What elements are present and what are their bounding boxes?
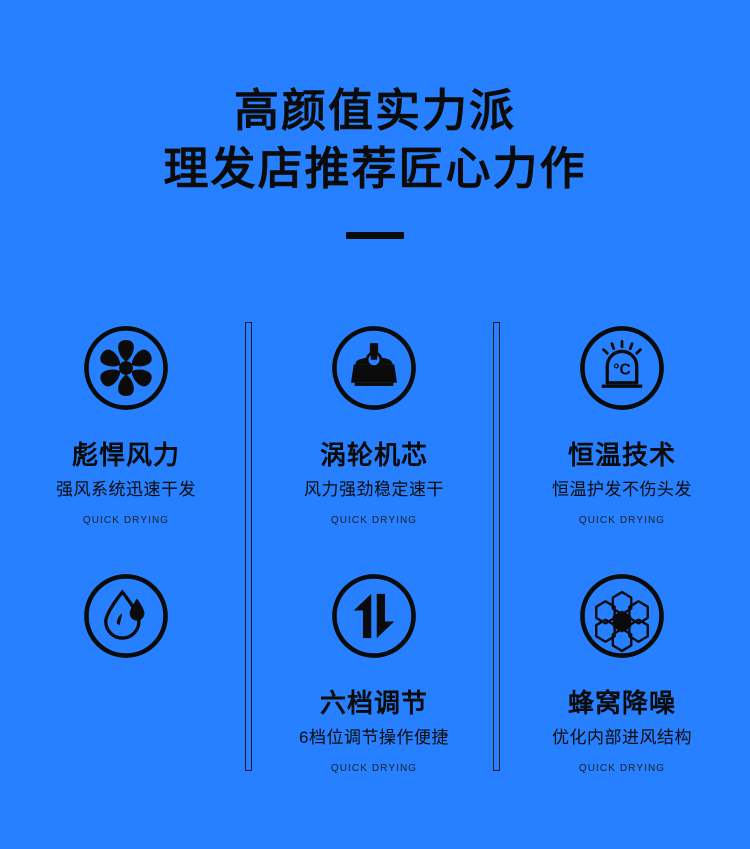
feature-title: 恒温技术 (498, 438, 746, 472)
motor-icon (328, 322, 420, 414)
feature-cell-constant-temperature: °C 恒温技术 恒温护发不伤头发 QUICK DRYING (498, 322, 746, 529)
feature-subtitle: 风力强劲稳定速干 (250, 478, 498, 502)
honeycomb-icon (576, 570, 668, 662)
feature-subtitle: 恒温护发不伤头发 (498, 478, 746, 502)
temperature-icon: °C (576, 322, 668, 414)
feature-english-caption: QUICK DRYING (498, 513, 746, 529)
feature-subtitle: 强风系统迅速干发 (2, 478, 250, 502)
feature-subtitle: 6档位调节操作便捷 (250, 726, 498, 750)
svg-text:°C: °C (613, 361, 631, 378)
product-feature-banner: 高颜值实力派 理发店推荐匠心力作 (0, 0, 750, 849)
feature-title: 彪悍风力 (2, 438, 250, 472)
title-underline-rule (346, 232, 404, 239)
feature-english-caption: QUICK DRYING (250, 761, 498, 777)
feature-english-caption: QUICK DRYING (250, 513, 498, 529)
feature-subtitle: 优化内部进风结构 (498, 726, 746, 750)
title-rule-container (0, 226, 750, 244)
feature-cell-honeycomb-noise-reduction: 蜂窝降噪 优化内部进风结构 QUICK DRYING (498, 570, 746, 777)
feature-title: 六档调节 (250, 686, 498, 720)
feature-cell-water-drop (2, 570, 250, 662)
feature-title: 涡轮机芯 (250, 438, 498, 472)
feature-cell-turbine-motor: 涡轮机芯 风力强劲稳定速干 QUICK DRYING (250, 322, 498, 529)
feature-grid: 彪悍风力 强风系统迅速干发 QUICK DRYING 涡轮机芯 风力强劲稳定速干 (0, 322, 750, 774)
fan-icon (80, 322, 172, 414)
page-title-line-2: 理发店推荐匠心力作 (0, 140, 750, 198)
header: 高颜值实力派 理发店推荐匠心力作 (0, 82, 750, 244)
feature-english-caption: QUICK DRYING (2, 513, 250, 529)
page-title-line-1: 高颜值实力派 (0, 82, 750, 140)
feature-cell-powerful-wind: 彪悍风力 强风系统迅速干发 QUICK DRYING (2, 322, 250, 529)
water-drop-icon (80, 570, 172, 662)
feature-cell-six-speed: 六档调节 6档位调节操作便捷 QUICK DRYING (250, 570, 498, 777)
up-down-arrows-icon (328, 570, 420, 662)
feature-title: 蜂窝降噪 (498, 686, 746, 720)
feature-english-caption: QUICK DRYING (498, 761, 746, 777)
